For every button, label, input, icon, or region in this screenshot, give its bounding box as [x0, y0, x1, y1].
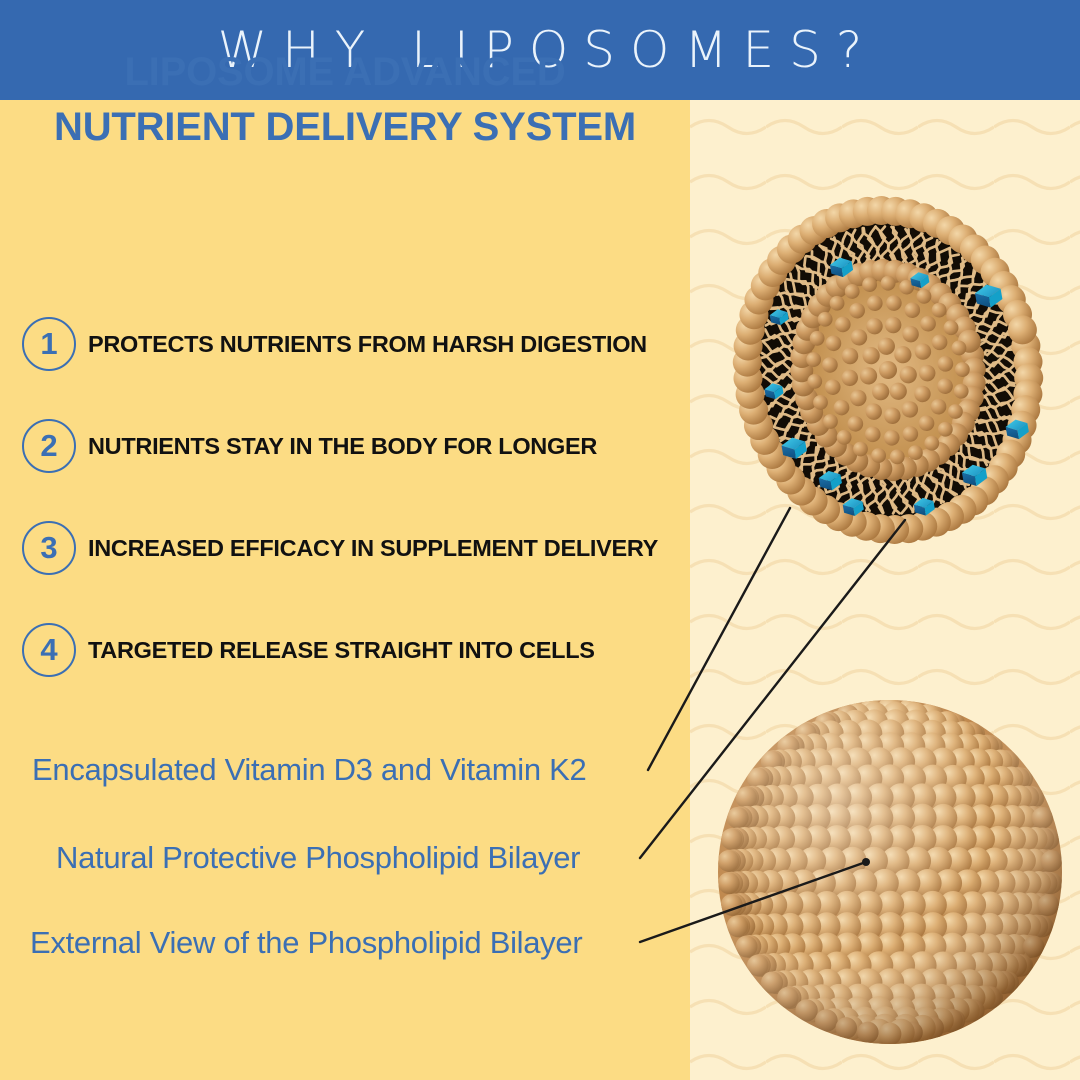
wavy-line-pattern-icon — [690, 100, 1080, 1080]
feature-number-badge-1: 1 — [22, 317, 76, 371]
section-title-line-1: LIPOSOME ADVANCED — [0, 45, 690, 100]
section-title: LIPOSOME ADVANCED NUTRIENT DELIVERY SYST… — [0, 45, 690, 155]
caption-external-bilayer: External View of the Phospholipid Bilaye… — [30, 925, 582, 961]
feature-label-1: PROTECTS NUTRIENTS FROM HARSH DIGESTION — [88, 331, 647, 358]
section-title-line-2: NUTRIENT DELIVERY SYSTEM — [0, 100, 690, 155]
infographic-page: WHY LIPOSOMES? LIPOSOME ADVANCED NUTRIEN… — [0, 0, 1080, 1080]
feature-number-badge-3: 3 — [22, 521, 76, 575]
feature-label-2: NUTRIENTS STAY IN THE BODY FOR LONGER — [88, 433, 597, 460]
feature-item-3: 3 INCREASED EFFICACY IN SUPPLEMENT DELIV… — [22, 519, 658, 577]
feature-item-1: 1 PROTECTS NUTRIENTS FROM HARSH DIGESTIO… — [22, 315, 647, 373]
feature-label-4: TARGETED RELEASE STRAIGHT INTO CELLS — [88, 637, 595, 664]
feature-number-badge-4: 4 — [22, 623, 76, 677]
feature-label-3: INCREASED EFFICACY IN SUPPLEMENT DELIVER… — [88, 535, 658, 562]
feature-item-4: 4 TARGETED RELEASE STRAIGHT INTO CELLS — [22, 621, 595, 679]
right-illustration-panel — [690, 100, 1080, 1080]
caption-encapsulated-vitamins: Encapsulated Vitamin D3 and Vitamin K2 — [32, 752, 586, 788]
feature-number-badge-2: 2 — [22, 419, 76, 473]
feature-item-2: 2 NUTRIENTS STAY IN THE BODY FOR LONGER — [22, 417, 597, 475]
caption-protective-bilayer: Natural Protective Phospholipid Bilayer — [56, 840, 580, 876]
